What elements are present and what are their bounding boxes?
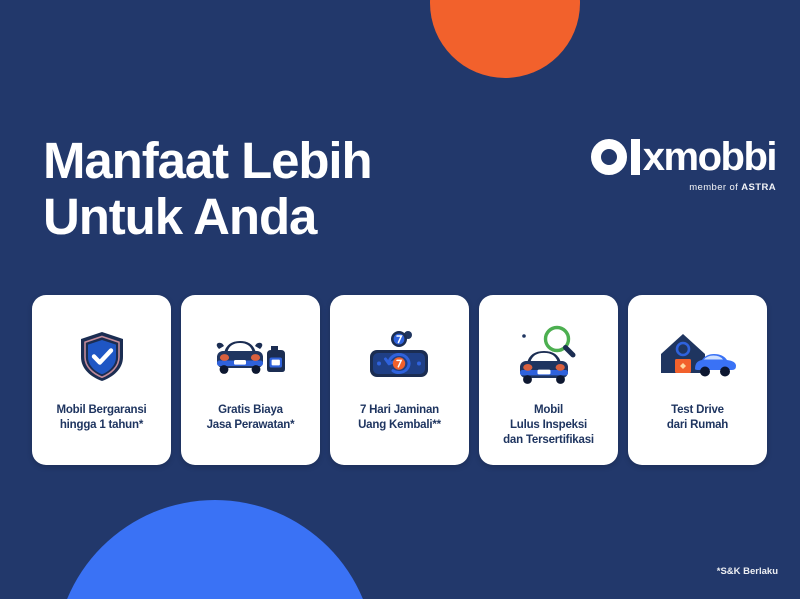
- logo-subtitle-prefix: member of: [689, 182, 741, 193]
- decorative-orange-circle: [430, 0, 580, 78]
- promo-banner: Manfaat Lebih Untuk Anda xmobbi member o…: [0, 0, 800, 599]
- logo-text: xmobbi: [643, 139, 776, 175]
- benefit-card[interactable]: Gratis Biaya Jasa Perawatan*: [181, 295, 320, 465]
- benefit-card-label: 7 Hari Jaminan Uang Kembali**: [352, 403, 447, 433]
- benefit-card-list: Mobil Bergaransi hingga 1 tahun*: [32, 295, 774, 465]
- benefit-card[interactable]: Mobil Lulus Inspeksi dan Tersertifikasi: [479, 295, 618, 465]
- logo-wordmark: xmobbi: [591, 136, 776, 178]
- car-magnifier-icon: [479, 323, 618, 389]
- page-title: Manfaat Lebih Untuk Anda: [43, 133, 372, 245]
- benefit-card-label: Mobil Lulus Inspeksi dan Tersertifikasi: [497, 403, 600, 448]
- benefit-card-label: Test Drive dari Rumah: [661, 403, 734, 433]
- terms-footnote: *S&K Berlaku: [717, 566, 778, 577]
- benefit-card[interactable]: Test Drive dari Rumah: [628, 295, 767, 465]
- car-oil-bottle-icon: [181, 323, 320, 389]
- shield-check-icon: [32, 323, 171, 389]
- benefit-card-label: Mobil Bergaransi hingga 1 tahun*: [50, 403, 152, 433]
- decorative-blue-circle: [55, 500, 375, 599]
- benefit-card[interactable]: 7 Hari Jaminan Uang Kembali**: [330, 295, 469, 465]
- brand-logo: xmobbi member of ASTRA: [591, 136, 776, 193]
- logo-subtitle: member of ASTRA: [591, 182, 776, 193]
- house-car-icon: [628, 323, 767, 389]
- logo-subtitle-brand: ASTRA: [741, 182, 776, 193]
- logo-bar-icon: [631, 139, 640, 175]
- benefit-card[interactable]: Mobil Bergaransi hingga 1 tahun*: [32, 295, 171, 465]
- money-back-icon: [330, 323, 469, 389]
- logo-o-icon: [591, 139, 627, 175]
- benefit-card-label: Gratis Biaya Jasa Perawatan*: [201, 403, 301, 433]
